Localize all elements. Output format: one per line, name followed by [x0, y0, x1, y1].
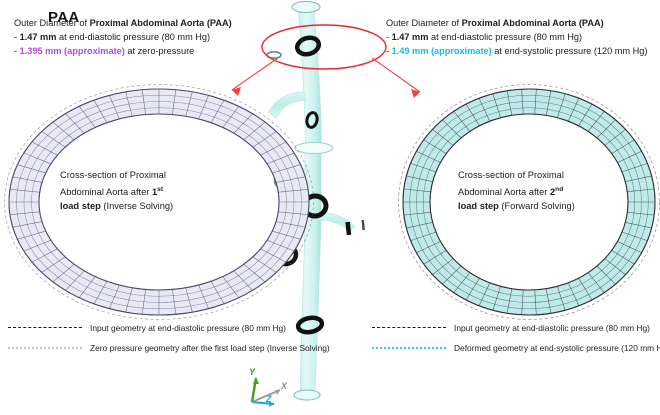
legend-right-item-1: Deformed geometry at end-systolic pressu… — [372, 338, 660, 358]
annotation-right-line2: - 1.47 mm at end-diastolic pressure (80 … — [386, 30, 647, 44]
ring-left-label-line1: Cross-section of Proximal — [60, 168, 173, 183]
paa-label: PAA — [48, 9, 79, 26]
legend-left-item-1: Zero pressure geometry after the first l… — [8, 338, 330, 358]
section-marker-6 — [361, 220, 364, 230]
annotation-left-line1: Outer Diameter of Proximal Abdominal Aor… — [14, 16, 232, 30]
legend-left-text-1: Zero pressure geometry after the first l… — [90, 343, 330, 354]
annotation-right: Outer Diameter of Proximal Abdominal Aor… — [386, 16, 647, 59]
ring-left-label-line3: load step (Inverse Solving) — [60, 199, 173, 214]
annotation-right-line3: - 1.49 mm (approximate) at end-systolic … — [386, 44, 647, 58]
figure-canvas: Outer Diameter of Proximal Abdominal Aor… — [0, 0, 660, 412]
annotation-right-line1: Outer Diameter of Proximal Abdominal Aor… — [386, 16, 647, 30]
ring-right-label-line2: Abdominal Aorta after 2nd — [458, 183, 575, 200]
legend-left-item-0: Input geometry at end-diastolic pressure… — [8, 318, 330, 338]
aorta-top-opening — [292, 2, 320, 13]
annotation-left-line3: - 1.395 mm (approximate) at zero-pressur… — [14, 44, 232, 58]
ring-left-label-line2: Abdominal Aorta after 1st — [60, 183, 173, 200]
axis-triad: Y X Z — [236, 368, 306, 410]
ring-left-label: Cross-section of Proximal Abdominal Aort… — [60, 168, 173, 214]
legend-left: Input geometry at end-diastolic pressure… — [8, 318, 330, 358]
ring-right-label-line1: Cross-section of Proximal — [458, 168, 575, 183]
legend-right-item-0: Input geometry at end-diastolic pressure… — [372, 318, 660, 338]
legend-right-text-1: Deformed geometry at end-systolic pressu… — [454, 343, 660, 354]
legend-left-text-0: Input geometry at end-diastolic pressure… — [90, 323, 286, 334]
axis-label-z: Z — [266, 394, 272, 404]
legend-right-text-0: Input geometry at end-diastolic pressure… — [454, 323, 650, 334]
axis-y-head — [253, 378, 259, 384]
zero-pressure-diameter-value: 1.395 mm (approximate) — [20, 46, 125, 56]
legend-right: Input geometry at end-diastolic pressure… — [372, 318, 660, 358]
ring-right-label-line3: load step (Forward Solving) — [458, 199, 575, 214]
annotation-left: Outer Diameter of Proximal Abdominal Aor… — [14, 16, 232, 59]
axis-label-y: Y — [249, 367, 255, 377]
section-marker-1 — [267, 52, 281, 58]
annotation-left-line2: - 1.47 mm at end-diastolic pressure (80 … — [14, 30, 232, 44]
axis-label-x: X — [281, 381, 287, 391]
ring-right-label: Cross-section of Proximal Abdominal Aort… — [458, 168, 575, 214]
